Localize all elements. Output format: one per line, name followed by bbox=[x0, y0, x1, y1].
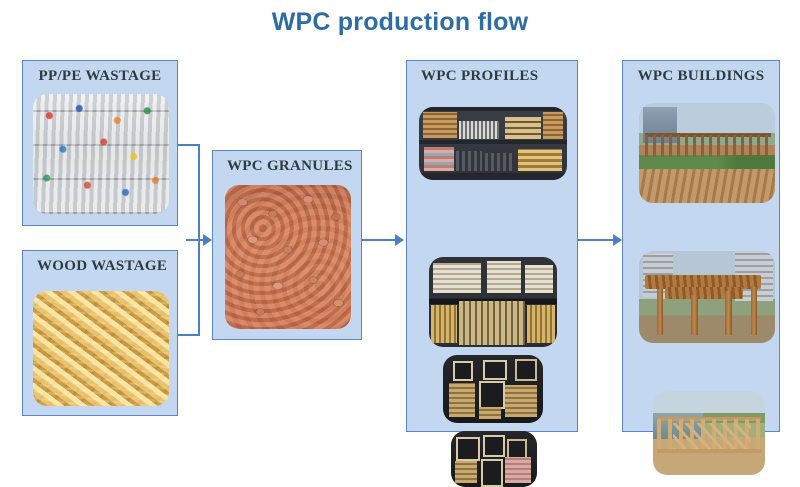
image-wpc-granules bbox=[225, 185, 351, 329]
arrow-inputs-to-granules bbox=[186, 234, 212, 246]
connector-line-bottom bbox=[178, 334, 200, 336]
panel-wood-wastage[interactable]: WOOD WASTAGE bbox=[22, 250, 178, 416]
diagram-canvas: WPC production flow PP/PE WASTAGE WOOD W… bbox=[0, 0, 800, 449]
panel-label-wpc-granules: WPC GRANULES bbox=[213, 158, 361, 175]
panel-wpc-buildings[interactable]: WPC BUILDINGS bbox=[622, 60, 780, 432]
panel-label-wood-wastage: WOOD WASTAGE bbox=[23, 258, 177, 275]
page-title: WPC production flow bbox=[0, 8, 800, 37]
panel-label-pp-pe-wastage: PP/PE WASTAGE bbox=[23, 68, 177, 85]
connector-line-top bbox=[178, 144, 200, 146]
image-profiles-rack bbox=[419, 107, 567, 180]
image-profiles-stacked-sections bbox=[451, 431, 537, 487]
panel-wpc-granules[interactable]: WPC GRANULES bbox=[212, 150, 362, 340]
arrow-granules-to-profiles bbox=[362, 234, 406, 246]
image-buildings-deck bbox=[639, 103, 775, 203]
image-buildings-pergola bbox=[639, 251, 775, 343]
image-profiles-stacks bbox=[429, 257, 557, 347]
image-buildings-boardwalk bbox=[653, 391, 765, 475]
panel-wpc-profiles[interactable]: WPC PROFILES bbox=[406, 60, 578, 432]
panel-label-wpc-profiles: WPC PROFILES bbox=[407, 68, 577, 85]
arrow-profiles-to-buildings bbox=[578, 234, 624, 246]
panel-label-wpc-buildings: WPC BUILDINGS bbox=[623, 68, 779, 85]
image-pp-pe-wastage bbox=[33, 94, 169, 214]
image-wood-wastage bbox=[33, 291, 169, 406]
panel-pp-pe-wastage[interactable]: PP/PE WASTAGE bbox=[22, 60, 178, 226]
image-profiles-cross-sections bbox=[443, 355, 543, 423]
